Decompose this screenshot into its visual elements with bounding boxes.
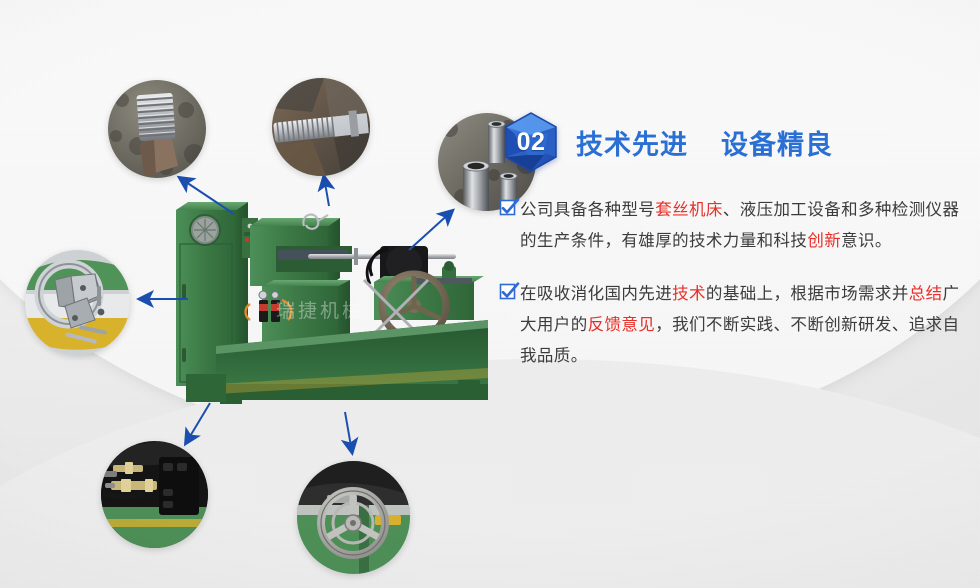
body-text: 在吸收消化国内先进 bbox=[520, 284, 672, 303]
banner-stage: 瑞捷机械 bbox=[0, 0, 980, 588]
detail-threaded-bar-image bbox=[272, 78, 370, 176]
highlighted-text: 反馈意见 bbox=[588, 315, 656, 334]
detail-hydraulic-fittings bbox=[101, 441, 208, 548]
detail-handwheel bbox=[297, 461, 410, 574]
detail-hydraulic-fittings-image bbox=[101, 441, 208, 548]
body-text: 公司具备各种型号 bbox=[520, 200, 655, 219]
highlighted-text: 创新 bbox=[807, 231, 841, 250]
highlighted-text: 总结 bbox=[909, 284, 943, 303]
body-text: 意识。 bbox=[841, 231, 892, 250]
detail-cutting-head bbox=[25, 250, 130, 355]
machine-photo: 瑞捷机械 bbox=[158, 188, 490, 418]
detail-threaded-rod-closeup bbox=[108, 80, 206, 178]
headline: 02 技术先进 设备精良 bbox=[500, 106, 970, 178]
detail-cutting-head-image bbox=[25, 250, 130, 355]
bullet-text-1: 公司具备各种型号套丝机床、液压加工设备和多种检测仪器的生产条件，有雄厚的技术力量… bbox=[520, 194, 970, 256]
bullet-list: 公司具备各种型号套丝机床、液压加工设备和多种检测仪器的生产条件，有雄厚的技术力量… bbox=[500, 194, 970, 371]
detail-handwheel-image bbox=[297, 461, 410, 574]
bullet-item-1: 公司具备各种型号套丝机床、液压加工设备和多种检测仪器的生产条件，有雄厚的技术力量… bbox=[500, 194, 970, 256]
highlighted-text: 套丝机床 bbox=[655, 200, 723, 219]
body-text: 的基础上，根据市场需求并 bbox=[706, 284, 909, 303]
machine-illustration bbox=[158, 188, 490, 418]
badge-number: 02 bbox=[500, 111, 562, 173]
content-panel: 02 技术先进 设备精良 公司具备各种型号套丝机床、液压加工设备和多种检测仪器的… bbox=[500, 106, 970, 393]
bullet-item-2: 在吸收消化国内先进技术的基础上，根据市场需求并总结广大用户的反馈意见，我们不断实… bbox=[500, 278, 970, 371]
detail-threaded-bar bbox=[272, 78, 370, 176]
step-badge: 02 bbox=[500, 111, 562, 173]
checkbox-checked-icon bbox=[500, 199, 517, 216]
title-part-2: 设备精良 bbox=[721, 130, 833, 160]
detail-threaded-rod-image bbox=[108, 80, 206, 178]
checkbox-checked-icon bbox=[500, 283, 517, 300]
highlighted-text: 技术 bbox=[672, 284, 706, 303]
page-title: 技术先进 设备精良 bbox=[576, 123, 833, 162]
bullet-text-2: 在吸收消化国内先进技术的基础上，根据市场需求并总结广大用户的反馈意见，我们不断实… bbox=[520, 278, 970, 371]
title-part-1: 技术先进 bbox=[576, 130, 688, 160]
